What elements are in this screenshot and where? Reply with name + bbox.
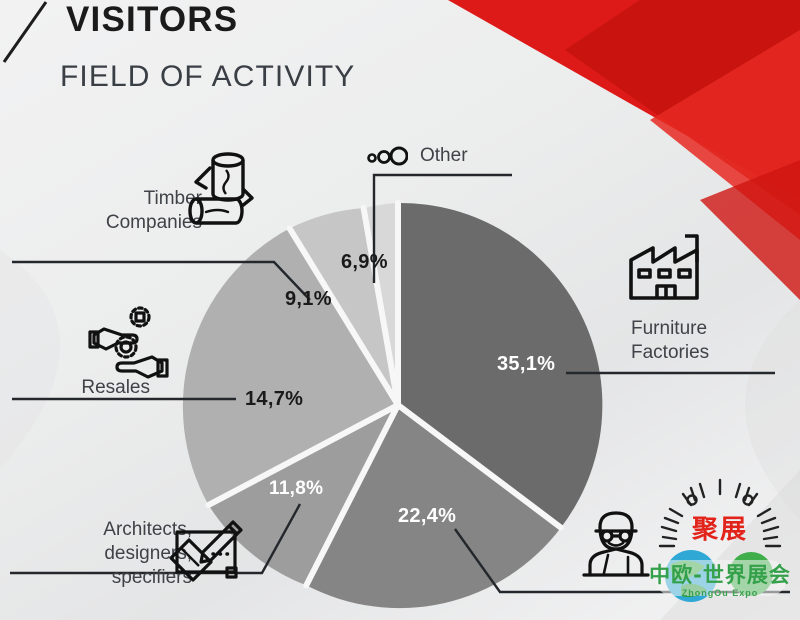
pie-value-timber: 9,1% xyxy=(285,288,332,311)
infographic-root: VISITORS FIELD OF ACTIVITY xyxy=(0,0,800,620)
callout-other-label: Other xyxy=(420,144,550,168)
three-circles-icon xyxy=(366,145,408,167)
watermark-top-text: 聚展 xyxy=(691,515,748,545)
pie-value-architects: 11,8% xyxy=(269,478,323,500)
callout-furniture-factories: Furniture Factories xyxy=(631,317,781,365)
timber-log-icon xyxy=(186,148,256,228)
ruler-pencil-icon xyxy=(167,518,247,588)
watermark-main-text: 中欧-世界展会 xyxy=(649,563,791,587)
watermark-logo: 聚展 中欧-世界展会 ZhongOu Expo xyxy=(645,478,795,613)
callout-timber-companies: Timber Companies xyxy=(62,187,202,235)
callout-timber-line2: Companies xyxy=(62,211,202,235)
callout-timber-line1: Timber xyxy=(62,187,202,211)
watermark-sub-text: ZhongOu Expo xyxy=(682,588,759,598)
pie-value-furniture-factories: 35,1% xyxy=(497,353,555,376)
callout-other: Other xyxy=(420,144,550,168)
pie-value-worker: 22,4% xyxy=(398,505,456,528)
callout-furniture-line1: Furniture xyxy=(631,317,781,341)
hands-gear-icon xyxy=(88,305,170,387)
factory-icon xyxy=(627,232,717,302)
pie-value-resales: 14,7% xyxy=(245,388,303,411)
pie-value-other: 6,9% xyxy=(341,251,388,274)
callout-furniture-line2: Factories xyxy=(631,341,781,365)
worker-icon xyxy=(582,505,650,581)
